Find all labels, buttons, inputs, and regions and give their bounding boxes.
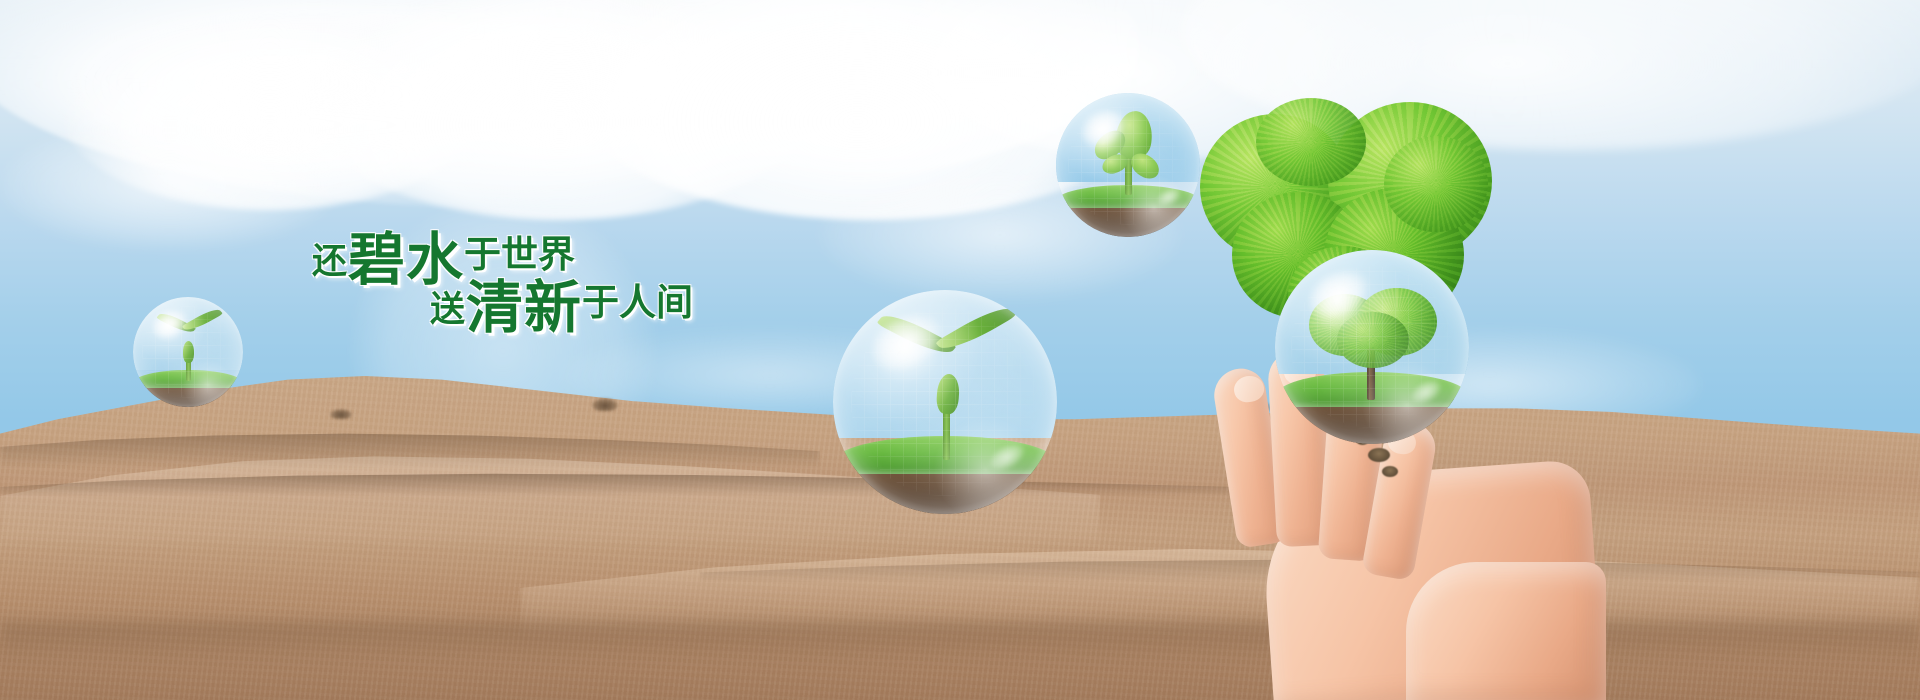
headline-line2-lead: 送 [430, 290, 466, 329]
desert-scrub-1 [592, 398, 618, 411]
headline-line1-lead: 还 [312, 242, 348, 281]
headline-line1-tail: 于世界 [464, 234, 575, 275]
headline-line2-emphasis: 清新 [466, 276, 582, 340]
inner-tree-foliage-center [1337, 312, 1409, 368]
bubble-leafy-plant [1056, 93, 1200, 237]
dune-shadow-4 [0, 622, 1920, 662]
environment-banner: 还碧水于世界 送清新于人间 [0, 0, 1920, 700]
desert-scrub-3 [1228, 400, 1272, 413]
headline-line2-tail: 于人间 [582, 282, 693, 323]
headline-slogan: 还碧水于世界 送清新于人间 [300, 232, 720, 352]
bubble-sprout-small [133, 297, 243, 407]
sprout-blade-center [183, 341, 194, 363]
desert-scrub-4 [330, 409, 352, 419]
headline-line-2: 送清新于人间 [430, 280, 693, 337]
bubble-tree-in-hand [1275, 250, 1469, 444]
bubble-sprout-large [833, 290, 1057, 514]
